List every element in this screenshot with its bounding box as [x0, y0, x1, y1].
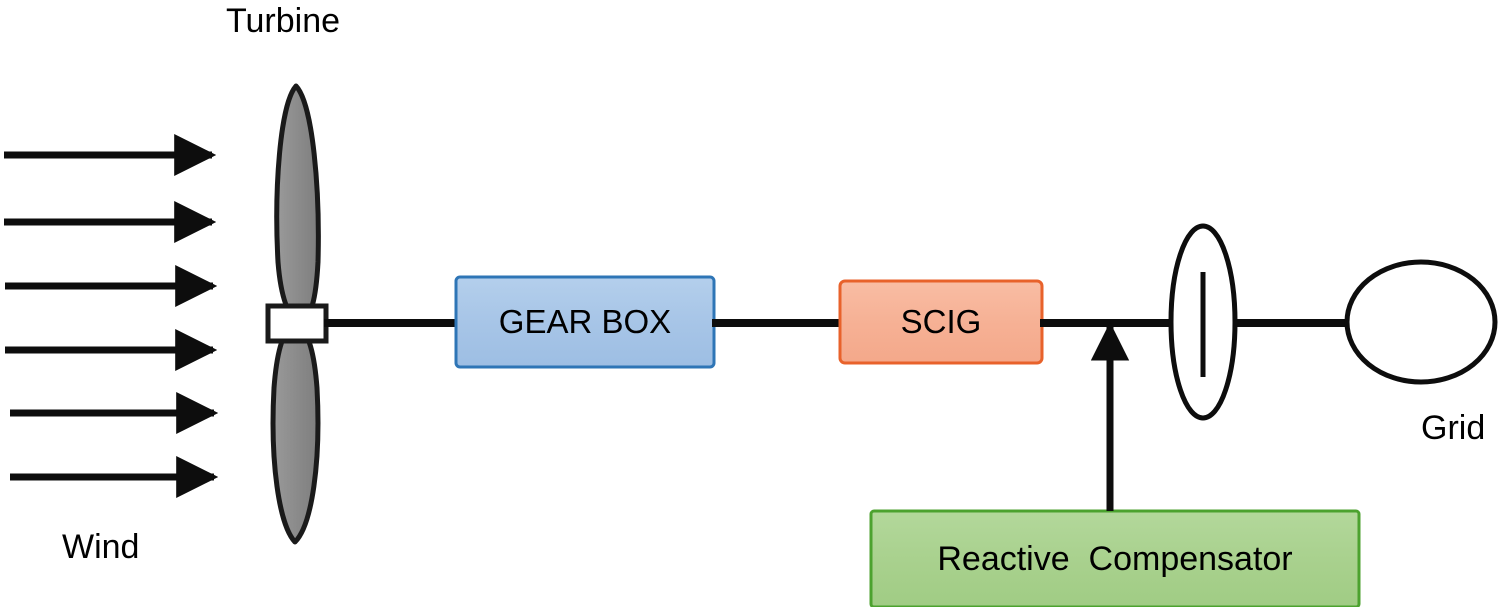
- scig-label: SCIG: [840, 281, 1042, 363]
- gear-box-label: GEAR BOX: [456, 277, 714, 367]
- wind-label: Wind: [62, 530, 139, 564]
- turbine-label: Turbine: [226, 4, 340, 38]
- turbine-rotor: [268, 86, 326, 542]
- grid-symbol: [1347, 262, 1495, 382]
- turbine-hub: [268, 306, 326, 341]
- turbine-blade-upper: [277, 86, 319, 324]
- reactive-compensator-label: Reactive Compensator: [871, 511, 1359, 607]
- grid-label: Grid: [1421, 411, 1485, 445]
- wind-arrows: [4, 155, 214, 477]
- transformer-symbol: [1171, 226, 1235, 418]
- diagram-canvas: Turbine Wind Grid GEAR BOX SCIG Reactive…: [0, 0, 1500, 607]
- turbine-blade-lower: [273, 323, 318, 542]
